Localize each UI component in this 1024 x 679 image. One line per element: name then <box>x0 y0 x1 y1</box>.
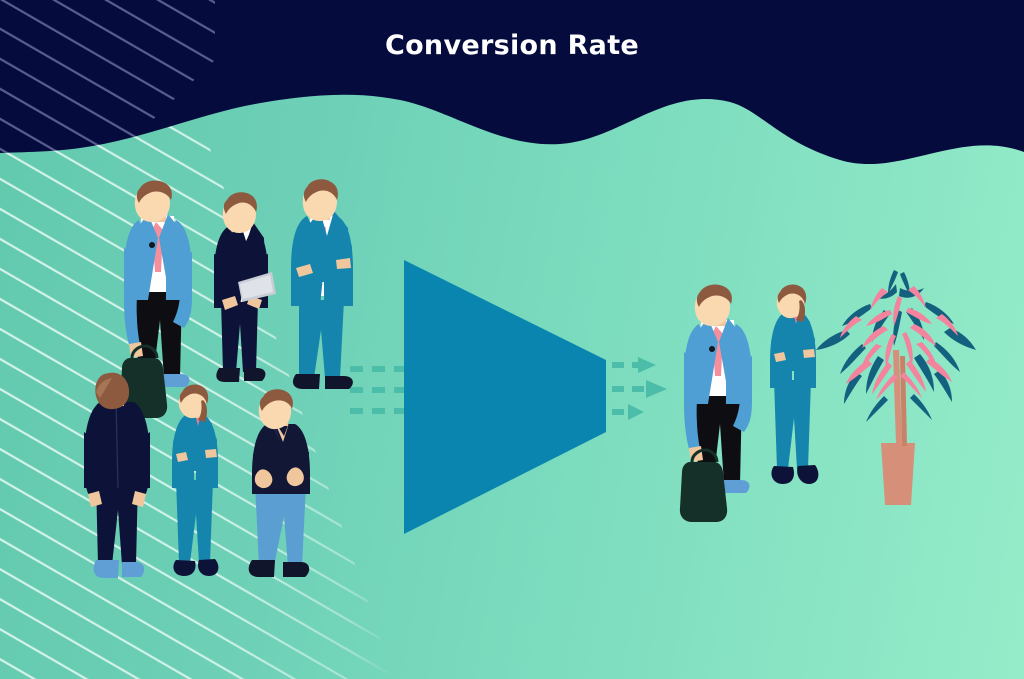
conversion-rate-illustration: Conversion Rate <box>0 0 1024 679</box>
decorative-plant <box>0 0 1024 679</box>
